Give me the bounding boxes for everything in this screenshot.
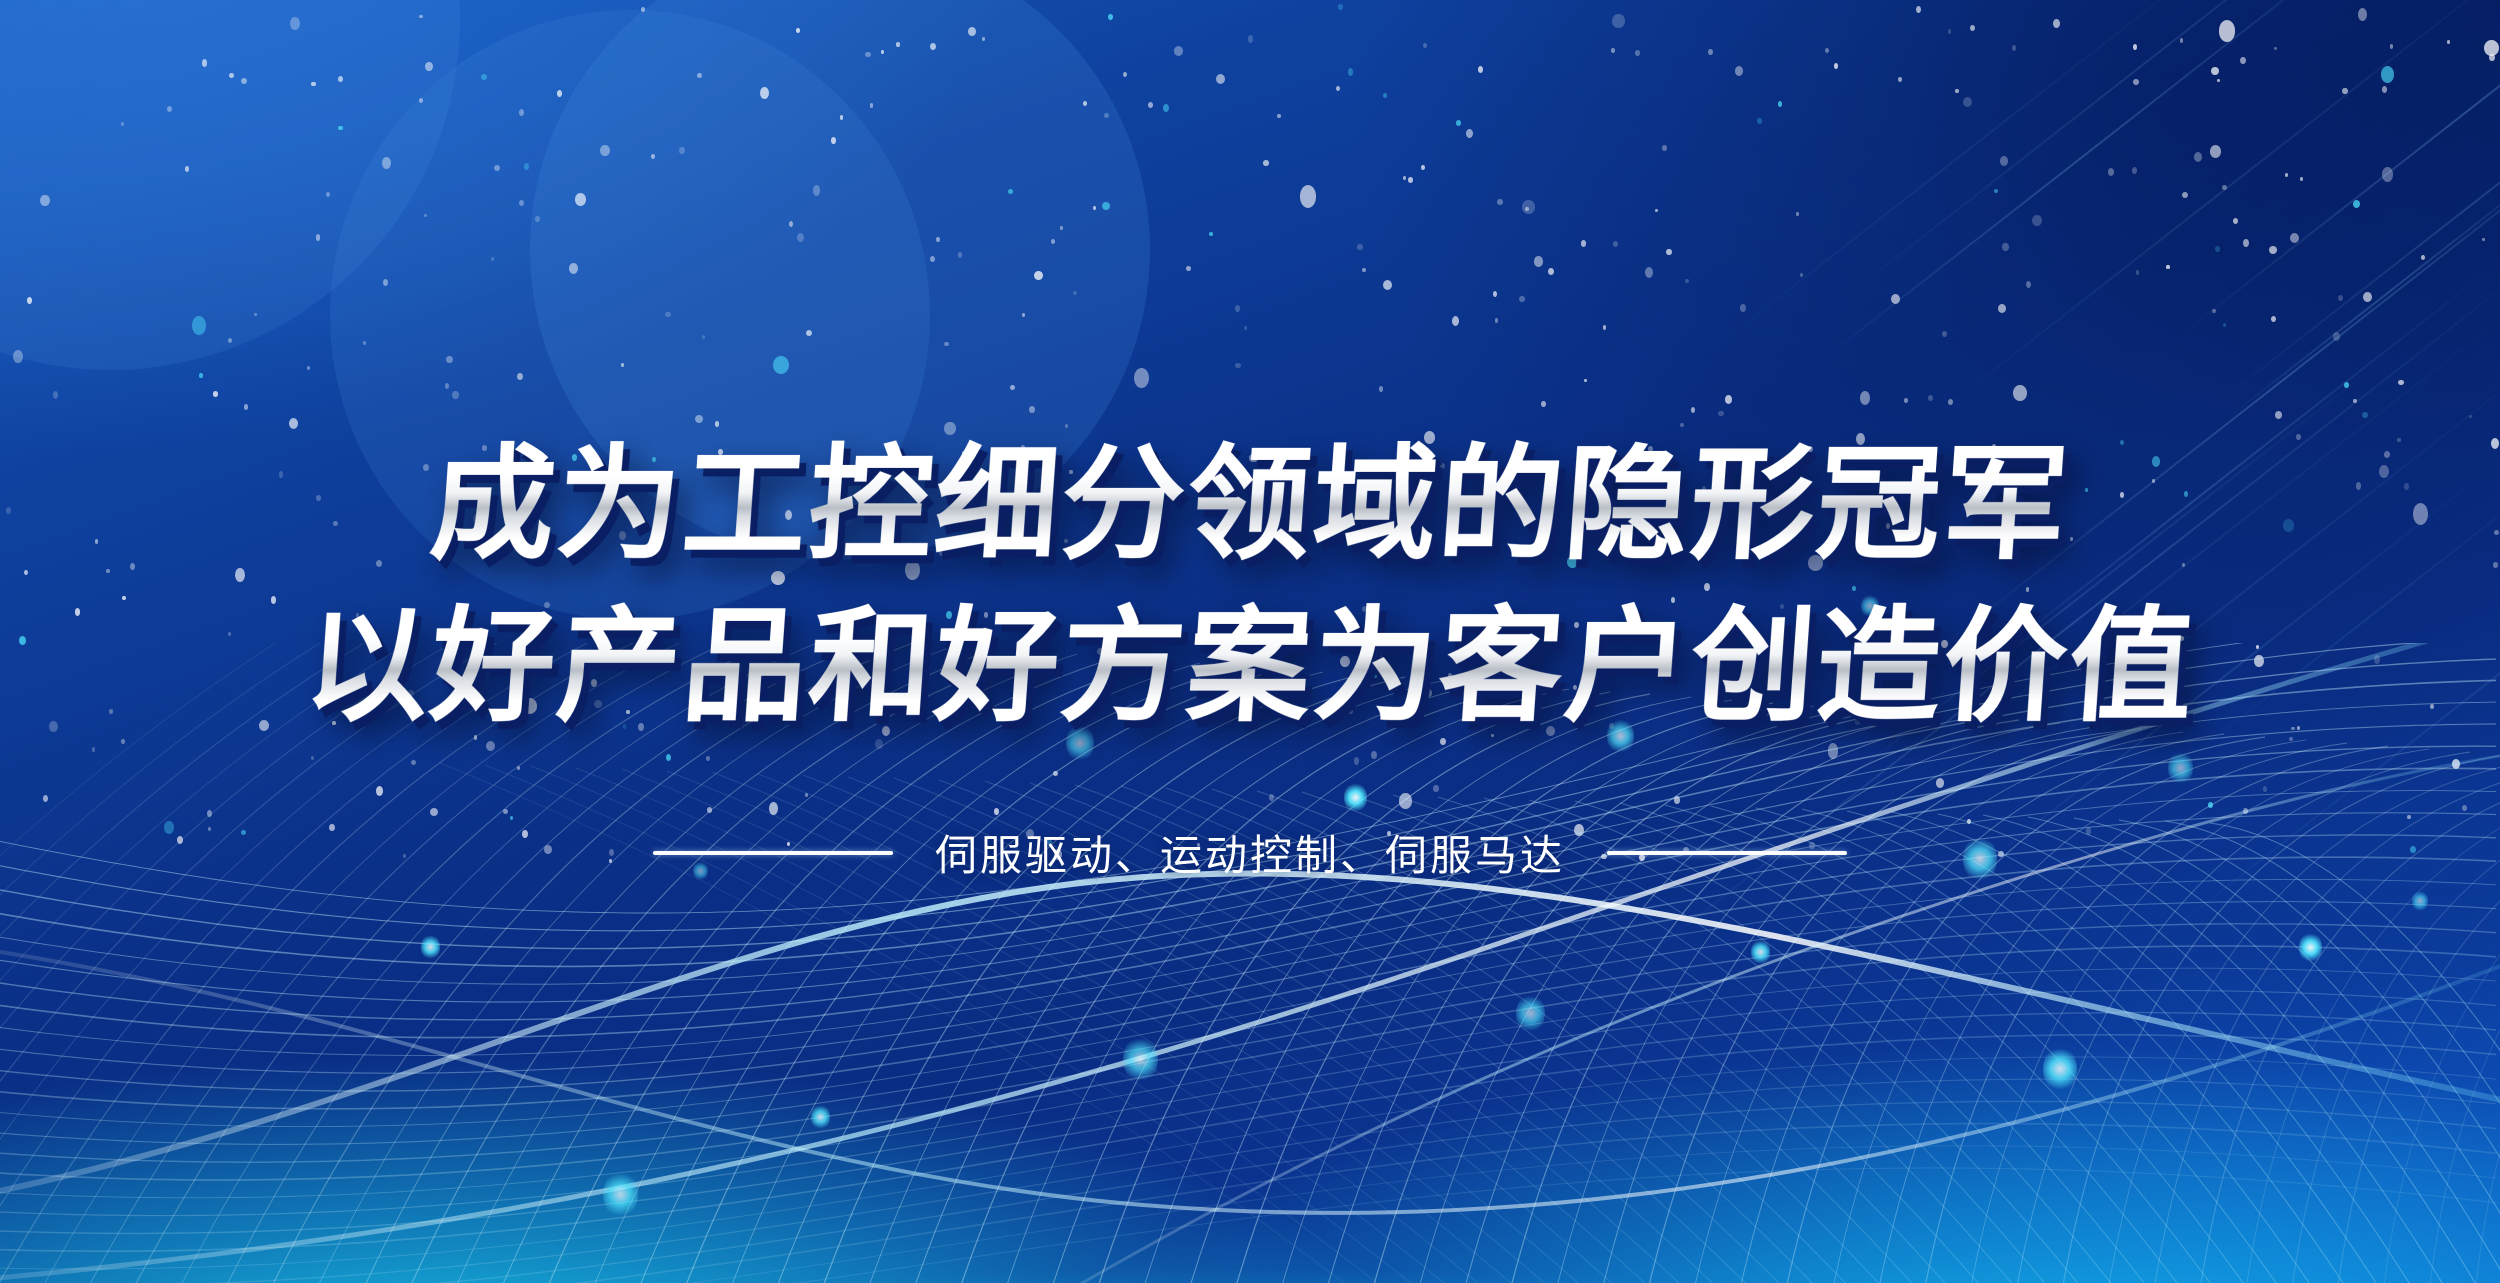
banner-canvas: 成为工控细分领域的隐形冠军 以好产品和好方案为客户创造价值 伺服驱动、运动控制、… [0,0,2500,1283]
headline-line-2: 以好产品和好方案为客户创造价值 [0,592,2500,742]
subtitle-block: 伺服驱动、运动控制、伺服马达 [0,822,2500,883]
subtitle-text: 伺服驱动、运动控制、伺服马达 [935,822,1565,883]
banner-content: 成为工控细分领域的隐形冠军 以好产品和好方案为客户创造价值 伺服驱动、运动控制、… [0,0,2500,1283]
headline-line-1: 成为工控细分领域的隐形冠军 [0,430,2500,580]
subtitle-rule-right [1607,851,1847,855]
subtitle-rule-left [653,851,893,855]
headline-block: 成为工控细分领域的隐形冠军 以好产品和好方案为客户创造价值 [0,430,2500,742]
